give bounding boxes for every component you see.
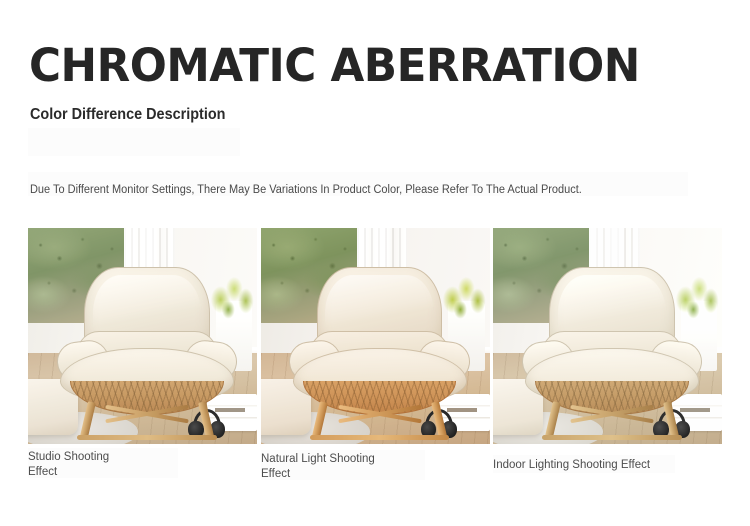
chair-runner: [542, 435, 681, 440]
caption-studio-line-1: Studio Shooting: [28, 450, 178, 465]
caption-studio-line-2: Effect: [28, 465, 178, 480]
caption-natural-light-line-2: Effect: [261, 467, 426, 482]
product-photo-natural-light: [261, 228, 490, 444]
lounge-chair: [60, 267, 234, 435]
product-photo-indoor-lighting: [493, 228, 722, 444]
caption-natural-light: Natural Light Shooting Effect: [261, 452, 426, 481]
gallery-panel-indoor-lighting[interactable]: [493, 228, 722, 444]
chromatic-aberration-page: CHROMATIC ABERRATION Color Difference De…: [0, 0, 750, 526]
section-subtitle: Color Difference Description: [30, 105, 225, 125]
caption-indoor-lighting: Indoor Lighting Shooting Effect: [493, 458, 713, 473]
caption-natural-light-line-1: Natural Light Shooting: [261, 452, 426, 467]
chair-runner: [77, 435, 216, 440]
page-title: CHROMATIC ABERRATION: [29, 43, 640, 89]
product-photo-gallery: [28, 228, 722, 444]
lounge-chair: [525, 267, 699, 435]
color-difference-description: Due To Different Monitor Settings, There…: [30, 183, 582, 197]
chair-leg-front-left: [545, 401, 561, 439]
caption-studio: Studio Shooting Effect: [28, 450, 178, 479]
gallery-panel-studio[interactable]: [28, 228, 257, 444]
gallery-panel-natural-light[interactable]: [261, 228, 490, 444]
subtitle-background-block: [28, 128, 240, 156]
caption-indoor-lighting-line-1: Indoor Lighting Shooting Effect: [493, 458, 713, 473]
chair-leg-front-right: [431, 401, 447, 439]
chair-leg-front-left: [80, 401, 96, 439]
lounge-chair: [293, 267, 467, 435]
chair-leg-front-left: [312, 401, 328, 439]
chair-leg-front-right: [199, 401, 215, 439]
product-photo-studio: [28, 228, 257, 444]
chair-runner: [310, 435, 449, 440]
chair-leg-front-right: [664, 401, 680, 439]
